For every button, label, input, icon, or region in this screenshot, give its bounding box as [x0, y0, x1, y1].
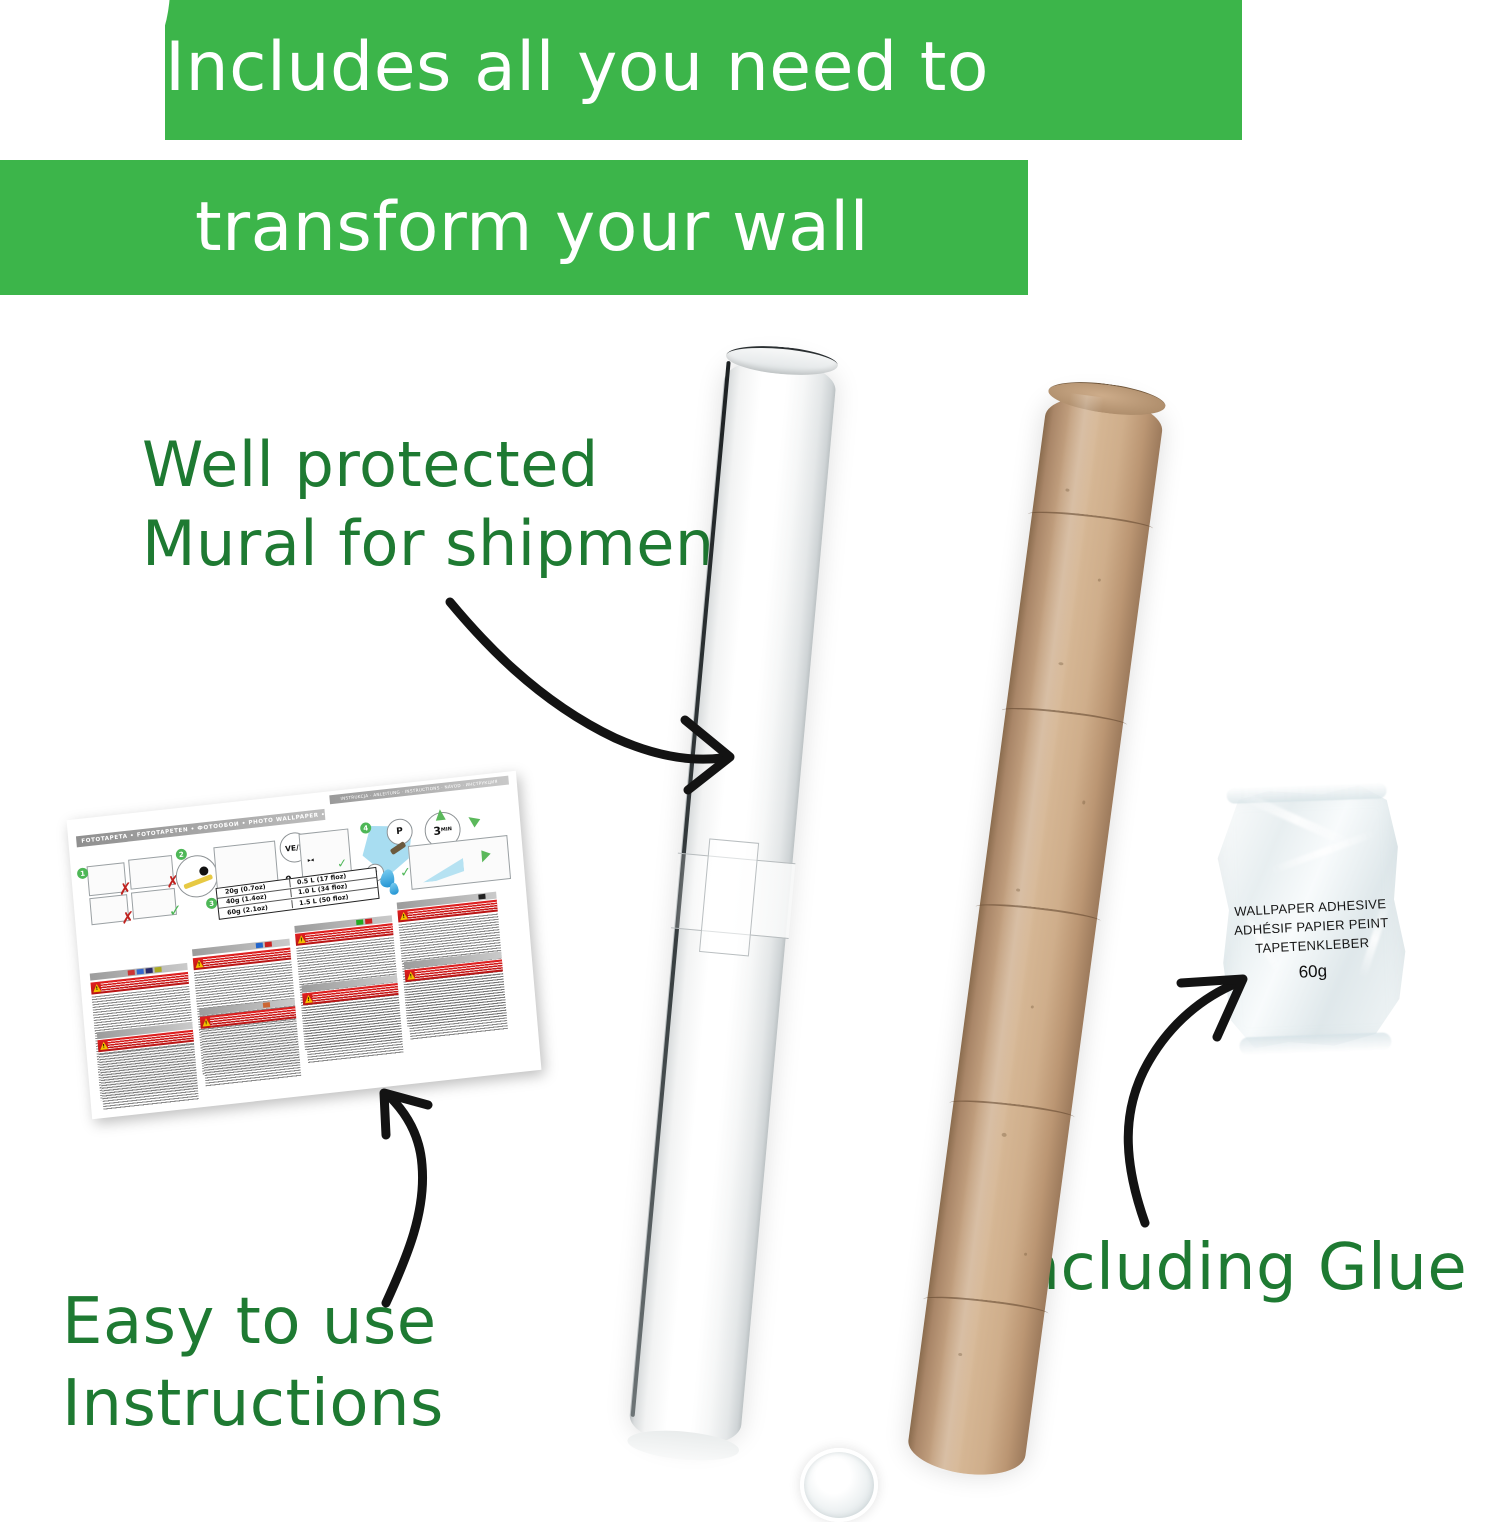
callout-mural-label: Well protected Mural for shipment — [142, 425, 740, 584]
flag-icon — [256, 943, 263, 949]
cardboard-tube-seam — [1001, 704, 1128, 731]
flag-icon — [145, 968, 152, 974]
flag-icon — [128, 970, 135, 976]
warning-triangle-icon — [297, 935, 306, 944]
headline-banner-bottom-text: transform your wall — [195, 188, 869, 267]
flag-icon — [265, 942, 272, 948]
instruction-text-column — [201, 1020, 301, 1086]
flag-icon — [356, 919, 363, 925]
arrow-to-instructions — [350, 1065, 530, 1315]
headline-banner-top: Includes all you need to — [0, 0, 1242, 140]
flag-icon — [365, 918, 372, 924]
glue-packet-label: WALLPAPER ADHESIVE ADHÉSIF PAPIER PEINT … — [1215, 894, 1408, 960]
warning-triangle-icon — [400, 911, 409, 920]
kraft-speck — [1082, 800, 1086, 804]
kraft-speck — [1031, 1005, 1034, 1008]
instruction-text-column — [406, 973, 508, 1040]
callout-glue-label: Including Glue — [1000, 1228, 1467, 1310]
flag-icon — [154, 967, 161, 973]
arrow-to-glue — [1045, 965, 1265, 1235]
warning-triangle-icon — [93, 984, 102, 993]
warning-triangle-icon — [407, 971, 416, 980]
tube-end-cap — [800, 1448, 878, 1522]
cardboard-tube-seam — [975, 900, 1102, 927]
warning-triangle-icon — [195, 959, 204, 968]
arrow-to-tube — [440, 590, 790, 810]
headline-banner-bottom: transform your wall — [0, 160, 1028, 295]
gap-arrow-icon: ▸◂ — [308, 856, 315, 864]
cardboard-tube-opening — [1047, 376, 1168, 420]
cross-icon: ✗ — [118, 881, 133, 898]
green-arrow-icon — [435, 809, 446, 821]
flag-icon — [263, 1002, 270, 1008]
warning-triangle-icon — [100, 1041, 109, 1050]
cross-icon: ✗ — [120, 909, 135, 926]
kraft-speck — [1001, 1133, 1006, 1138]
flag-icon — [478, 894, 485, 900]
cardboard-tube-seam — [1027, 508, 1154, 535]
headline-banner-top-text: Includes all you need to — [165, 28, 989, 107]
flag-icon — [137, 969, 144, 975]
white-tube-opening — [725, 342, 839, 379]
green-arrow-icon — [466, 813, 481, 827]
cardboard-tube-seam — [922, 1293, 1049, 1320]
instruction-text-column — [99, 1044, 199, 1110]
check-icon: ✓ — [168, 902, 183, 919]
warning-triangle-icon — [202, 1018, 211, 1027]
cardboard-shipping-tube — [905, 390, 1165, 1481]
infographic-canvas: Includes all you need to transform your … — [0, 0, 1500, 1500]
instruction-text-column — [303, 997, 403, 1063]
banner-corner-mask — [0, 0, 170, 148]
kraft-speck — [1024, 1253, 1027, 1256]
white-tube-tape-label — [671, 853, 795, 939]
warning-triangle-icon — [304, 994, 313, 1003]
white-tube-base — [626, 1426, 740, 1464]
check-icon: ✓ — [337, 857, 348, 870]
kraft-speck — [1098, 578, 1101, 581]
kraft-speck — [1058, 662, 1063, 666]
